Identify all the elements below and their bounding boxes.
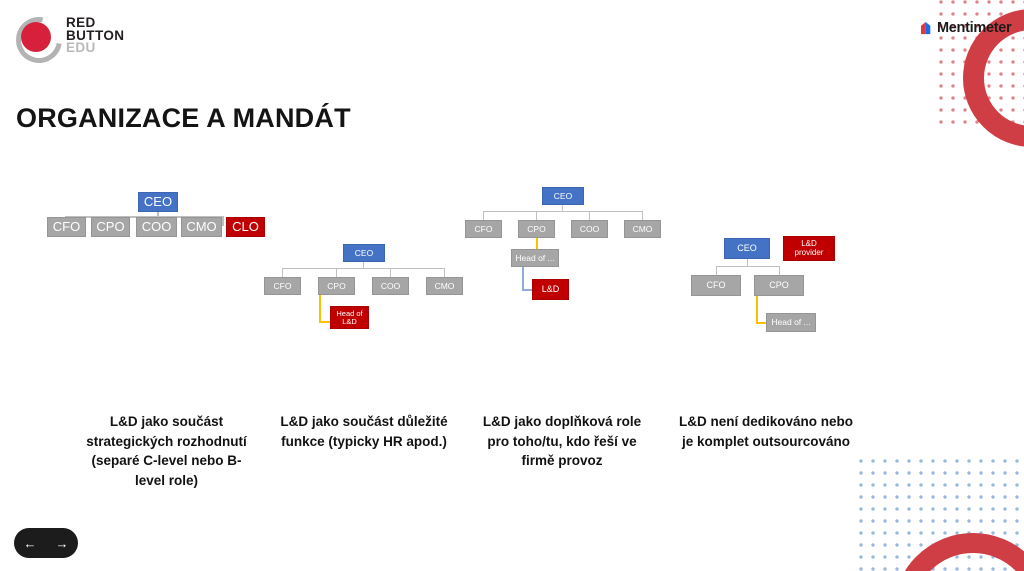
node-ceo: CEO bbox=[542, 187, 584, 205]
connector-drop-cpo bbox=[536, 211, 537, 220]
connector-drop-clo bbox=[222, 216, 224, 226]
node-cmo: CMO bbox=[426, 277, 463, 295]
node-cpo: CPO bbox=[518, 220, 555, 238]
arrow-left-icon[interactable]: ← bbox=[24, 537, 37, 550]
connector-drop-cmo bbox=[642, 211, 643, 220]
node-cpo: CPO bbox=[91, 217, 130, 237]
connector-stub-ceo bbox=[747, 259, 748, 267]
node-ceo: CEO bbox=[343, 244, 385, 262]
connector-vertical-to-head bbox=[536, 238, 538, 249]
node-cmo: CMO bbox=[181, 217, 222, 237]
connector-stub-ceo bbox=[562, 205, 563, 212]
connector-vertical-to-head bbox=[756, 296, 758, 323]
connector-drop-cfo bbox=[716, 266, 717, 275]
connector-drop-coo bbox=[589, 211, 590, 220]
node-ceo: CEO bbox=[138, 192, 178, 212]
node-coo: COO bbox=[571, 220, 608, 238]
node-clo: CLO bbox=[226, 217, 265, 237]
connector-vertical-to-head bbox=[319, 295, 321, 322]
caption-chart-1: L&D jako součást strategických rozhodnut… bbox=[84, 412, 249, 490]
node-cfo: CFO bbox=[465, 220, 502, 238]
connector-elbow-to-head bbox=[319, 321, 330, 323]
node-ld-provider: L&D provider bbox=[783, 236, 835, 261]
slide-canvas: RED BUTTON EDU Mentimeter ORGANIZACE A M… bbox=[0, 0, 1024, 571]
connector-drop-cfo bbox=[483, 211, 484, 220]
node-cpo: CPO bbox=[754, 275, 804, 296]
mentimeter-bars-icon bbox=[921, 22, 934, 35]
brand-logo-text: RED BUTTON EDU bbox=[66, 17, 124, 55]
caption-chart-2: L&D jako součást důležité funkce (typick… bbox=[276, 412, 452, 451]
node-cfo: CFO bbox=[264, 277, 301, 295]
node-cfo: CFO bbox=[47, 217, 86, 237]
page-title: ORGANIZACE A MANDÁT bbox=[16, 103, 351, 134]
red-circle-ring-icon bbox=[14, 15, 60, 61]
brand-logo: RED BUTTON EDU bbox=[14, 13, 224, 63]
caption-chart-4: L&D není dedikováno nebo je komplet outs… bbox=[676, 412, 856, 451]
node-head-of-ld: Head of L&D bbox=[330, 306, 369, 329]
node-head-of: Head of ... bbox=[511, 249, 559, 267]
node-cpo: CPO bbox=[318, 277, 355, 295]
connector-drop-coo bbox=[390, 268, 391, 277]
connector-drop-cmo bbox=[444, 268, 445, 277]
node-coo: COO bbox=[136, 217, 177, 237]
node-head-of: Head of ... bbox=[766, 313, 816, 332]
node-cmo: CMO bbox=[624, 220, 661, 238]
connector-stub-ceo bbox=[363, 262, 364, 269]
node-ld-provider-line2: provider bbox=[795, 249, 824, 257]
node-ceo: CEO bbox=[724, 238, 770, 259]
node-cfo: CFO bbox=[691, 275, 741, 296]
node-head-of-ld-line2: L&D bbox=[342, 318, 357, 326]
connector-drop-cfo bbox=[282, 268, 283, 277]
arrow-right-icon[interactable]: → bbox=[56, 537, 69, 550]
connector-elbow-to-head bbox=[756, 322, 766, 324]
mentimeter-watermark: Mentimeter bbox=[921, 20, 1011, 36]
connector-drop-cpo bbox=[779, 266, 780, 275]
node-coo: COO bbox=[372, 277, 409, 295]
caption-chart-3: L&D jako doplňková role pro toho/tu, kdo… bbox=[478, 412, 646, 471]
slide-navigation[interactable]: ← → bbox=[14, 528, 78, 558]
connector-drop-cpo bbox=[336, 268, 337, 277]
logo-line-edu: EDU bbox=[66, 42, 124, 55]
mentimeter-label: Mentimeter bbox=[937, 20, 1011, 36]
connector-vertical-to-ld bbox=[522, 267, 524, 290]
node-ld: L&D bbox=[532, 279, 569, 300]
